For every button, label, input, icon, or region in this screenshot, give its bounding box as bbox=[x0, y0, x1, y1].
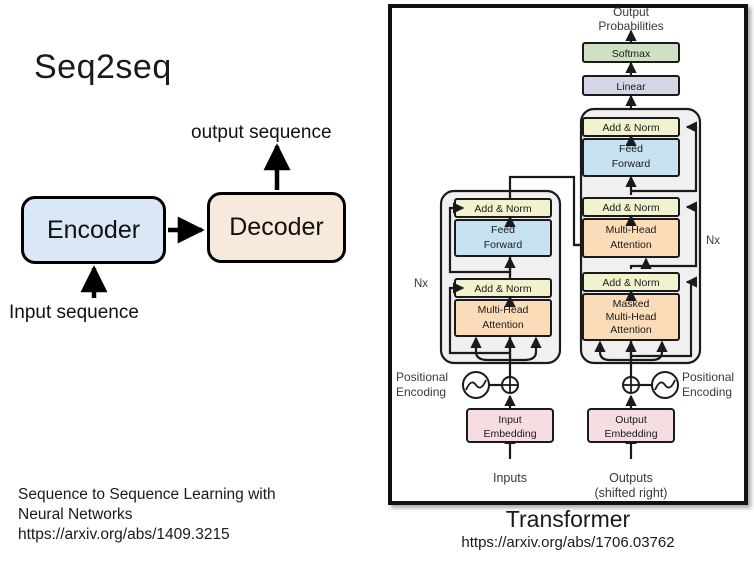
outputs-label-line2: (shifted right) bbox=[595, 486, 668, 500]
decoder-addnorm-mid-label: Add & Norm bbox=[602, 202, 659, 214]
seq2seq-panel: Seq2seq Encoder Decoder output sequence … bbox=[0, 0, 388, 564]
linear-label: Linear bbox=[616, 81, 646, 93]
positional-encoding-label-right-line2: Encoding bbox=[682, 385, 732, 399]
positional-encoding-label-left-line2: Encoding bbox=[396, 385, 446, 399]
input-sequence-label: Input sequence bbox=[9, 302, 139, 324]
encoder-mha-label-line1: Multi-Head bbox=[478, 304, 529, 316]
positional-encoding-label-right-line1: Positional bbox=[682, 370, 734, 384]
decoder-cross-attn-label-line2: Attention bbox=[610, 239, 652, 251]
transformer-caption-url[interactable]: https://arxiv.org/abs/1706.03762 bbox=[388, 533, 748, 553]
seq2seq-arrows bbox=[0, 0, 388, 564]
decoder-cross-attn-label-line1: Multi-Head bbox=[606, 224, 657, 236]
decoder-repeat-label: Nx bbox=[706, 235, 720, 247]
encoder-label: Encoder bbox=[47, 216, 140, 245]
encoder-addnorm-lower-label: Add & Norm bbox=[474, 283, 531, 295]
output-probabilities-label-line1: Output bbox=[613, 5, 650, 19]
output-embedding-label-line2: Embedding bbox=[604, 428, 657, 440]
outputs-label-line1: Outputs bbox=[609, 471, 653, 485]
decoder-label: Decoder bbox=[229, 213, 324, 242]
encoder-repeat-label: Nx bbox=[414, 278, 428, 290]
decoder-box[interactable]: Decoder bbox=[207, 192, 346, 263]
decoder-addnorm-bottom-label: Add & Norm bbox=[602, 277, 659, 289]
transformer-diagram: Multi-Head Attention Add & Norm Feed For… bbox=[388, 4, 748, 505]
encoder-box[interactable]: Encoder bbox=[21, 196, 166, 264]
output-sequence-label: output sequence bbox=[191, 122, 332, 144]
output-probabilities-label-line2: Probabilities bbox=[598, 19, 663, 33]
seq2seq-citation-line1: Sequence to Sequence Learning with bbox=[18, 485, 276, 505]
encoder-ff-label-line2: Forward bbox=[484, 239, 523, 251]
seq2seq-citation-line2: Neural Networks bbox=[18, 505, 276, 525]
input-embedding-label-line2: Embedding bbox=[483, 428, 536, 440]
seq2seq-citation: Sequence to Sequence Learning with Neura… bbox=[18, 485, 276, 545]
transformer-figure-panel: Multi-Head Attention Add & Norm Feed For… bbox=[388, 4, 748, 505]
encoder-mha-label-line2: Attention bbox=[482, 319, 524, 331]
encoder-addnorm-upper-label: Add & Norm bbox=[474, 203, 531, 215]
seq2seq-citation-url[interactable]: https://arxiv.org/abs/1409.3215 bbox=[18, 525, 276, 545]
inputs-label: Inputs bbox=[493, 471, 527, 485]
input-embedding-label-line1: Input bbox=[498, 414, 521, 426]
transformer-caption: Transformer https://arxiv.org/abs/1706.0… bbox=[388, 505, 748, 553]
positional-encoding-label-left-line1: Positional bbox=[396, 370, 448, 384]
decoder-addnorm-top-label: Add & Norm bbox=[602, 122, 659, 134]
decoder-masked-mha-label-line1: Masked bbox=[613, 298, 650, 310]
output-embedding-label-line1: Output bbox=[615, 414, 647, 426]
encoder-ff-label-line1: Feed bbox=[491, 224, 515, 236]
decoder-ff-label-line2: Forward bbox=[612, 158, 651, 170]
transformer-caption-title: Transformer bbox=[388, 505, 748, 533]
slide-root: Seq2seq Encoder Decoder output sequence … bbox=[0, 0, 754, 564]
decoder-masked-mha-label-line3: Attention bbox=[610, 324, 652, 336]
decoder-ff-label-line1: Feed bbox=[619, 143, 643, 155]
softmax-label: Softmax bbox=[612, 48, 651, 60]
decoder-masked-mha-label-line2: Multi-Head bbox=[606, 311, 657, 323]
